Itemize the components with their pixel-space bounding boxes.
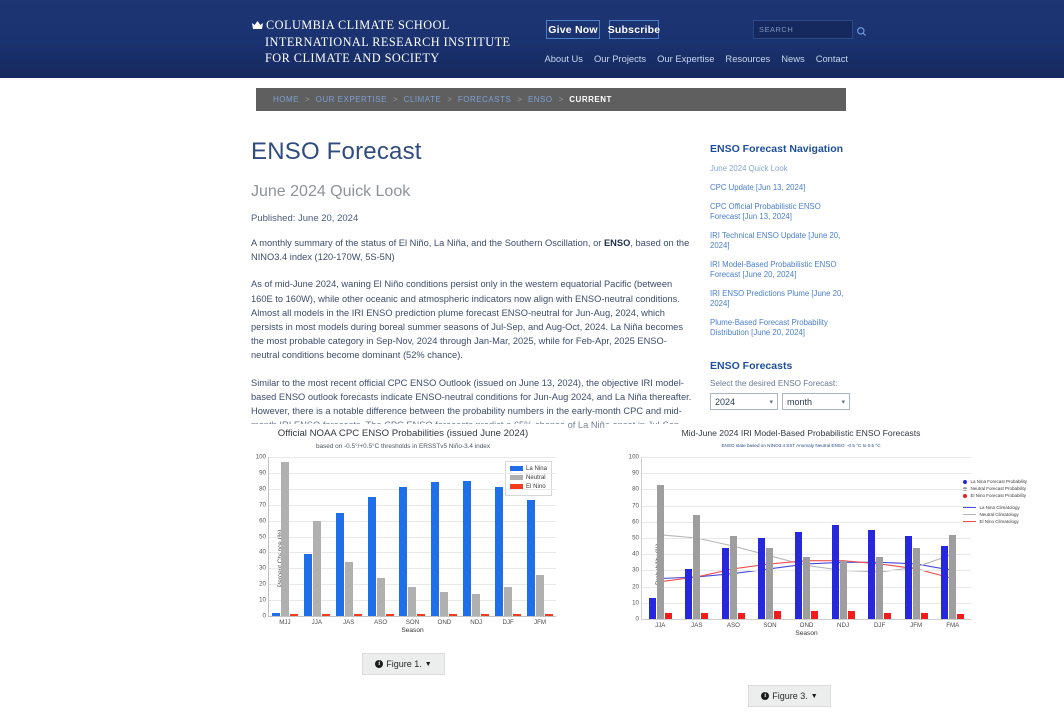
chevron-down-icon: ▾	[841, 398, 845, 406]
crown-icon	[252, 19, 263, 34]
legend-label-neutral-clim: Neutral Climatology	[979, 512, 1018, 517]
chart-plot-area: Percent Chance (%) La Nina Neutral El Ni…	[268, 457, 556, 617]
sidebar-link-iri-predictions-plume[interactable]: IRI ENSO Predictions Plume [June 20, 202…	[710, 289, 850, 309]
subscribe-button[interactable]: Subscribe	[609, 20, 659, 39]
search-box[interactable]	[753, 20, 853, 39]
site-logo[interactable]: COLUMBIA CLIMATE SCHOOL INTERNATIONAL RE…	[252, 18, 511, 66]
nav-item-news[interactable]: News	[781, 53, 804, 64]
chart-y-tick: 40	[259, 549, 266, 556]
chart-bar	[949, 535, 956, 619]
chart-bar	[408, 587, 416, 616]
chart-bar	[513, 614, 521, 616]
figure-3-button[interactable]: i Figure 3. ▼	[748, 685, 831, 707]
chart-bar	[693, 515, 700, 619]
legend-item-la-nina-climatology: La Nina Climatology	[963, 505, 1027, 510]
chart-bar	[504, 587, 512, 616]
legend-swatch-neutral	[510, 475, 523, 480]
chart-y-tick: 90	[632, 470, 639, 477]
sidebar-link-cpc-update[interactable]: CPC Update [Jun 13, 2024]	[710, 183, 850, 193]
chart-y-tick: 10	[259, 597, 266, 604]
chart-bar	[941, 546, 948, 619]
chart-y-tick: 20	[259, 581, 266, 588]
chart-x-tick: OND	[800, 622, 814, 629]
month-select[interactable]: month ▾	[782, 393, 850, 410]
figure-1-button[interactable]: i Figure 1. ▼	[362, 653, 445, 675]
page-title: ENSO Forecast	[251, 138, 693, 166]
breadcrumb-separator: >	[305, 95, 310, 104]
legend-label-la-nina: La Nina	[526, 465, 547, 472]
chart-y-tick: 70	[632, 502, 639, 509]
chart-bar	[884, 613, 891, 619]
chart-bar-group	[934, 535, 971, 619]
chart-plot-area: Probability (%) La Nina Forecast Probabi…	[641, 457, 971, 620]
chart-bar	[913, 548, 920, 619]
chart-x-axis-label: Season	[401, 627, 423, 634]
sidebar: ENSO Forecast Navigation June 2024 Quick…	[710, 143, 850, 410]
article-subtitle: June 2024 Quick Look	[251, 183, 693, 201]
nav-item-our-projects[interactable]: Our Projects	[594, 53, 646, 64]
chart-bar-group	[428, 482, 460, 616]
chart-bar	[527, 500, 535, 616]
chart-bar-group	[898, 536, 935, 619]
legend-label-neutral-forecast: Neutral Forecast Probability	[970, 486, 1026, 491]
chart-y-tick: 0	[636, 616, 639, 623]
forecast-select-label: Select the desired ENSO Forecast:	[710, 379, 850, 388]
chart-bar	[281, 462, 289, 616]
chart-x-tick: JAS	[343, 619, 354, 626]
logo-line-2: INTERNATIONAL RESEARCH INSTITUTE	[265, 35, 511, 50]
breadcrumb-separator: >	[393, 95, 398, 104]
chart-title: Official NOAA CPC ENSO Probabilities (is…	[238, 428, 568, 439]
chart-bar	[795, 532, 802, 619]
legend-item-el-nino-forecast: El Nino Forecast Probability	[963, 493, 1027, 498]
chart-bar-group	[752, 538, 789, 619]
chart-bar	[649, 598, 656, 619]
legend-dot-el-nino	[963, 494, 967, 498]
chart-y-tick: 50	[632, 535, 639, 542]
chart-x-tick: NDJ	[470, 619, 482, 626]
legend-label-la-nina-clim: La Nina Climatology	[979, 505, 1019, 510]
chart-bar	[738, 613, 745, 619]
published-date: Published: June 20, 2024	[251, 213, 693, 224]
legend-item-el-nino-climatology: El Nino Climatology	[963, 519, 1027, 524]
chart-legend: La Nina Forecast Probability Neutral For…	[963, 479, 1027, 526]
chart-x-tick: JFM	[534, 619, 546, 626]
chart-bar	[774, 611, 781, 619]
chart-bar	[811, 611, 818, 619]
chart-x-tick: OND	[438, 619, 452, 626]
chart-bar	[431, 482, 439, 616]
chart-bar-group	[788, 532, 825, 619]
legend-line-neutral-clim	[963, 514, 976, 516]
chart-y-tick: 30	[632, 567, 639, 574]
sidebar-link-cpc-official-forecast[interactable]: CPC Official Probabilistic ENSO Forecast…	[710, 202, 850, 222]
chart-bar	[336, 513, 344, 616]
chart-x-axis-label: Season	[795, 630, 817, 637]
chart-bar	[905, 536, 912, 619]
chart-bar	[440, 592, 448, 616]
logo-line-1: COLUMBIA CLIMATE SCHOOL	[252, 18, 511, 34]
chart-bar	[868, 530, 875, 619]
sidebar-forecasts-heading: ENSO Forecasts	[710, 360, 850, 372]
chart-y-tick: 80	[259, 485, 266, 492]
legend-swatch-la-nina	[510, 466, 523, 471]
chart-bar	[386, 614, 394, 616]
chart-bar	[840, 561, 847, 619]
site-header: COLUMBIA CLIMATE SCHOOL INTERNATIONAL RE…	[0, 0, 1064, 78]
chart-bar	[832, 525, 839, 619]
chart-bar-group	[715, 536, 752, 619]
chart-bar-group	[825, 525, 862, 619]
chart-y-tick: 100	[629, 454, 639, 461]
chart-bar	[657, 485, 664, 619]
info-icon: i	[375, 660, 383, 668]
chart-gridline	[269, 457, 556, 458]
chart-x-tick: NDJ	[837, 622, 849, 629]
chart-bar	[848, 611, 855, 619]
chart-y-tick: 80	[632, 486, 639, 493]
chart-x-tick: SON	[763, 622, 776, 629]
legend-line-la-nina-clim	[963, 507, 976, 509]
nav-item-about-us[interactable]: About Us	[544, 53, 583, 64]
chart-bar	[701, 613, 708, 619]
chart-bar-group	[397, 487, 429, 616]
article-content: ENSO Forecast June 2024 Quick Look Publi…	[251, 138, 693, 460]
chart-y-tick: 30	[259, 565, 266, 572]
year-select-value: 2024	[715, 397, 735, 407]
sidebar-link-iri-technical-update[interactable]: IRI Technical ENSO Update [June 20, 2024…	[710, 231, 850, 251]
search-input[interactable]	[759, 25, 856, 34]
search-icon[interactable]	[856, 24, 867, 35]
cpc-enso-probabilities-chart: Official NOAA CPC ENSO Probabilities (is…	[238, 424, 568, 642]
intro-enso-bold: ENSO	[604, 238, 630, 248]
chart-bar-group	[642, 485, 679, 619]
chart-bar-group	[460, 481, 492, 616]
breadcrumb-item-home[interactable]: HOME	[273, 95, 299, 104]
chart-bar	[377, 578, 385, 616]
legend-label-el-nino-forecast: El Nino Forecast Probability	[970, 493, 1026, 498]
chart-x-tick: JAS	[691, 622, 702, 629]
chart-x-tick: DJF	[874, 622, 885, 629]
chart-x-tick: JJA	[655, 622, 665, 629]
figure-3-label: Figure 3.	[772, 691, 808, 701]
article-paragraph-2: As of mid-June 2024, waning El Niño cond…	[251, 277, 693, 362]
breadcrumb-item-climate[interactable]: CLIMATE	[404, 95, 442, 104]
chevron-down-icon: ▼	[811, 693, 818, 700]
legend-dot-la-nina	[963, 480, 967, 484]
chart-y-tick: 60	[259, 517, 266, 524]
legend-item-neutral-forecast: Neutral Forecast Probability	[963, 486, 1027, 491]
chart-bar-group	[492, 487, 524, 616]
chart-bar	[272, 613, 280, 616]
chart-bar	[313, 521, 321, 616]
chart-x-tick: JJA	[312, 619, 322, 626]
chart-bar	[722, 548, 729, 619]
chart-y-tick: 20	[632, 583, 639, 590]
chart-bar-group	[301, 521, 333, 616]
chart-y-tick: 40	[632, 551, 639, 558]
chart-bar	[354, 614, 362, 616]
chart-y-tick: 50	[259, 533, 266, 540]
chart-bar-group	[269, 462, 301, 616]
legend-label-neutral: Neutral	[526, 474, 546, 481]
chart-bar	[536, 575, 544, 616]
legend-label-la-nina-forecast: La Nina Forecast Probability	[970, 479, 1027, 484]
chart-bar	[665, 613, 672, 619]
chart-y-tick: 0	[263, 613, 266, 620]
sidebar-nav-heading: ENSO Forecast Navigation	[710, 143, 850, 155]
chart-bar	[449, 614, 457, 616]
chart-x-tick: ASO	[727, 622, 740, 629]
legend-label-el-nino-clim: El Nino Climatology	[979, 519, 1018, 524]
iri-model-based-forecasts-chart: Mid-June 2024 IRI Model-Based Probabilis…	[605, 424, 997, 669]
chart-subtitle: based on -0.5°/+0.5°C thresholds in ERSS…	[238, 443, 568, 450]
breadcrumb-current: CURRENT	[569, 95, 612, 104]
chart-bar	[957, 614, 964, 619]
chart-bar-group	[365, 497, 397, 616]
nav-item-our-expertise[interactable]: Our Expertise	[657, 53, 714, 64]
chart-bar	[463, 481, 471, 616]
chart-bar	[545, 614, 553, 616]
intro-text-pre: A monthly summary of the status of El Ni…	[251, 238, 604, 248]
main-navigation: About Us Our Projects Our Expertise Reso…	[548, 53, 848, 64]
legend-item-la-nina: La Nina	[510, 465, 547, 472]
breadcrumb-separator: >	[517, 95, 522, 104]
chart-y-tick: 100	[256, 454, 266, 461]
chart-x-tick: JFM	[910, 622, 922, 629]
year-select[interactable]: 2024 ▾	[710, 393, 778, 410]
chevron-down-icon: ▼	[425, 661, 432, 668]
legend-item-la-nina-forecast: La Nina Forecast Probability	[963, 479, 1027, 484]
chart-bar	[876, 557, 883, 619]
chart-y-tick: 60	[632, 518, 639, 525]
chart-subtitle: ENSO state based on NINO3.4 SST Anomaly …	[605, 443, 997, 448]
breadcrumb-item-enso[interactable]: ENSO	[528, 95, 553, 104]
chart-y-tick: 90	[259, 469, 266, 476]
breadcrumb-separator: >	[559, 95, 564, 104]
chart-gridline	[642, 457, 971, 458]
chart-bar-group	[861, 530, 898, 619]
chart-title: Mid-June 2024 IRI Model-Based Probabilis…	[605, 428, 997, 438]
breadcrumb-item-our-expertise[interactable]: OUR EXPERTISE	[316, 95, 387, 104]
chart-x-tick: SON	[406, 619, 419, 626]
chart-bar	[685, 569, 692, 619]
give-now-button[interactable]: Give Now	[546, 20, 600, 39]
logo-line-3: FOR CLIMATE AND SOCIETY	[265, 51, 511, 66]
chart-x-tick: MJJ	[279, 619, 290, 626]
chart-bar	[290, 614, 298, 616]
chart-bar	[766, 548, 773, 619]
chart-x-tick: FMA	[946, 622, 959, 629]
chart-gridline	[269, 473, 556, 474]
breadcrumb: HOME > OUR EXPERTISE > CLIMATE > FORECAS…	[256, 88, 846, 111]
chart-bar	[921, 613, 928, 619]
chart-bar	[304, 554, 312, 616]
sidebar-link-plume-based-distribution[interactable]: Plume-Based Forecast Probability Distrib…	[710, 318, 850, 338]
chart-bar	[345, 562, 353, 616]
chart-bar	[803, 557, 810, 619]
sidebar-link-iri-model-based-forecast[interactable]: IRI Model-Based Probabilistic ENSO Forec…	[710, 260, 850, 280]
info-icon: i	[761, 692, 769, 700]
figure-1-label: Figure 1.	[386, 659, 422, 669]
chart-y-tick: 10	[632, 599, 639, 606]
chart-bar	[758, 538, 765, 619]
chart-bar-group	[333, 513, 365, 616]
chevron-down-icon: ▾	[769, 398, 773, 406]
chart-x-tick: ASO	[374, 619, 387, 626]
chart-x-tick: DJF	[502, 619, 513, 626]
forecast-selectors: 2024 ▾ month ▾	[710, 393, 850, 410]
chart-bar-group	[679, 515, 716, 619]
chart-bar-group	[524, 500, 556, 616]
nav-item-resources[interactable]: Resources	[725, 53, 770, 64]
chart-bar	[322, 614, 330, 616]
chart-gridline	[642, 489, 971, 490]
legend-item-neutral-climatology: Neutral Climatology	[963, 512, 1027, 517]
sidebar-link-quick-look[interactable]: June 2024 Quick Look	[710, 164, 850, 174]
legend-item-neutral: Neutral	[510, 474, 547, 481]
chart-bar	[368, 497, 376, 616]
chart-gridline	[642, 473, 971, 474]
chart-bar	[481, 614, 489, 616]
chart-y-tick: 70	[259, 501, 266, 508]
nav-item-contact[interactable]: Contact	[816, 53, 848, 64]
chart-gridline	[642, 506, 971, 507]
month-select-value: month	[787, 397, 812, 407]
article-intro: A monthly summary of the status of El Ni…	[251, 236, 693, 264]
chart-bar	[399, 487, 407, 616]
breadcrumb-separator: >	[447, 95, 452, 104]
chart-bar	[417, 614, 425, 616]
chart-bar	[495, 487, 503, 616]
chart-bar	[730, 536, 737, 619]
chart-bar	[472, 594, 480, 616]
breadcrumb-item-forecasts[interactable]: FORECASTS	[458, 95, 511, 104]
